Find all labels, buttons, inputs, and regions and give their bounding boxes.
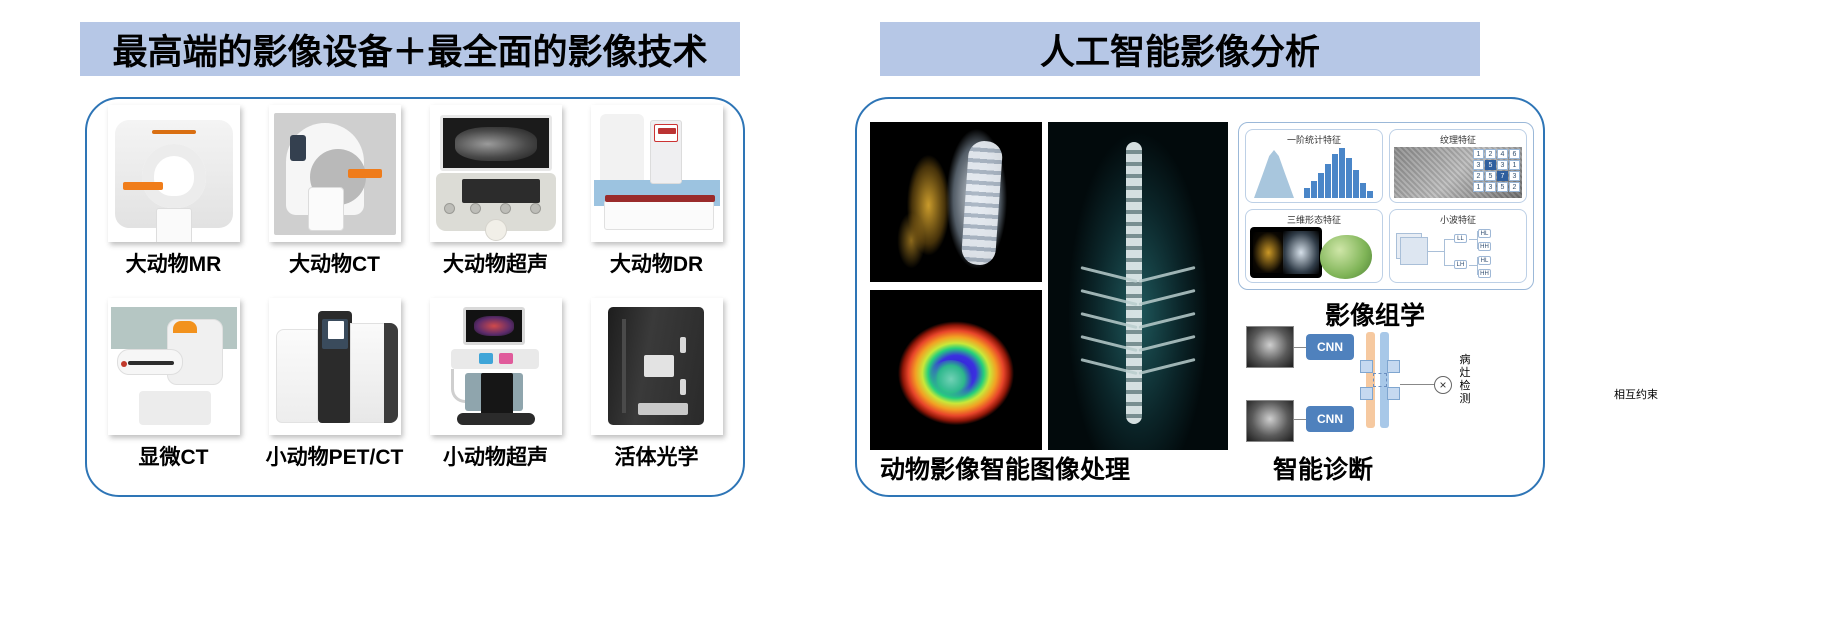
histogram-plot bbox=[1250, 147, 1378, 198]
device-label: 大动物DR bbox=[610, 248, 703, 278]
cnn-block: CNN bbox=[1306, 406, 1354, 432]
wavelet-node: HH bbox=[1478, 269, 1491, 278]
mri-slice-thumbnail bbox=[1246, 400, 1294, 442]
small-animal-ultrasound-icon bbox=[430, 298, 562, 435]
mri-scanner-icon bbox=[108, 105, 240, 242]
device-item-dr[interactable]: 大动物DR bbox=[578, 105, 735, 296]
matrix-cell: 5 bbox=[1485, 171, 1496, 181]
wavelet-node: HH bbox=[1478, 242, 1491, 251]
matrix-cell: 3 bbox=[1485, 182, 1496, 192]
device-label: 大动物超声 bbox=[443, 248, 548, 278]
lesion-detection-label: 病灶检测 bbox=[1458, 354, 1472, 406]
feature-3d-shape: 三维形态特征 bbox=[1245, 209, 1383, 283]
matrix-cell: 1 bbox=[1473, 149, 1484, 159]
ai-panel-content: 一阶统计特征 bbox=[870, 110, 1535, 488]
feature-title: 一阶统计特征 bbox=[1246, 133, 1382, 146]
wavelet-node: LH bbox=[1454, 260, 1467, 269]
matrix-cell: 3 bbox=[1497, 160, 1508, 170]
matrix-cell: 2 bbox=[1473, 171, 1484, 181]
mutual-constraint-label: 相互约束 bbox=[1614, 386, 1658, 402]
matrix-cell: 3 bbox=[1473, 160, 1484, 170]
feature-title: 三维形态特征 bbox=[1246, 213, 1382, 226]
device-item-pet-ct[interactable]: 小动物PET/CT bbox=[256, 298, 413, 489]
matrix-cell: 4 bbox=[1497, 149, 1508, 159]
device-label: 小动物超声 bbox=[443, 441, 548, 471]
device-label: 活体光学 bbox=[615, 441, 699, 471]
wavelet-node: HL bbox=[1478, 256, 1491, 265]
device-item-ct[interactable]: 大动物CT bbox=[256, 105, 413, 296]
caption-intelligent-diagnosis: 智能诊断 bbox=[1273, 450, 1373, 486]
wavelet-decomposition-tree: LL LH HL HH HL HH bbox=[1428, 229, 1522, 276]
device-item-micro-ct[interactable]: 显微CT bbox=[95, 298, 252, 489]
slide-root: 最高端的影像设备＋最全面的影像技术 人工智能影像分析 大动物MR bbox=[0, 0, 1831, 640]
matrix-cell: 6 bbox=[1509, 149, 1520, 159]
digital-radiography-icon bbox=[591, 105, 723, 242]
banner-left-text: 最高端的影像设备＋最全面的影像技术 bbox=[112, 24, 707, 75]
mutual-constraint-core bbox=[1360, 360, 1400, 400]
feature-first-order-statistics: 一阶统计特征 bbox=[1245, 129, 1383, 203]
matrix-cell: 2 bbox=[1509, 182, 1520, 192]
matrix-cell: 5 bbox=[1497, 182, 1508, 192]
texture-matrix: 1 2 4 6 3 5 3 1 2 5 7 3 1 3 5 bbox=[1473, 149, 1520, 192]
in-vivo-optical-imaging-icon bbox=[591, 298, 723, 435]
pet-ct-icon bbox=[269, 298, 401, 435]
shape-3d-thumbnail bbox=[1250, 227, 1322, 278]
banner-imaging-equipment: 最高端的影像设备＋最全面的影像技术 bbox=[80, 22, 740, 76]
radiomics-feature-grid: 一阶统计特征 bbox=[1238, 122, 1534, 290]
device-item-small-animal-ultrasound[interactable]: 小动物超声 bbox=[417, 298, 574, 489]
device-label: 大动物CT bbox=[289, 248, 380, 278]
cnn-diagram: CNN CNN × 相互约束 病灶检测 bbox=[1242, 324, 1534, 452]
ultrasound-console-icon bbox=[430, 105, 562, 242]
wavelet-node: HL bbox=[1478, 229, 1491, 238]
device-label: 显微CT bbox=[139, 441, 209, 471]
matrix-cell: 1 bbox=[1473, 182, 1484, 192]
feature-texture: 纹理特征 1 2 4 6 3 5 3 1 2 5 7 bbox=[1389, 129, 1527, 203]
wavelet-node: LL bbox=[1454, 234, 1467, 243]
feature-wavelet: 小波特征 LL LH HL bbox=[1389, 209, 1527, 283]
mri-slice-thumbnail bbox=[1246, 326, 1294, 368]
device-item-mr[interactable]: 大动物MR bbox=[95, 105, 252, 296]
matrix-cell: 5 bbox=[1485, 160, 1496, 170]
micro-ct-icon bbox=[108, 298, 240, 435]
skeleton-ct-render-image bbox=[1048, 122, 1228, 450]
feature-title: 纹理特征 bbox=[1390, 133, 1526, 146]
device-label: 大动物MR bbox=[126, 248, 222, 278]
wavelet-source-image-icon bbox=[1396, 233, 1422, 259]
matrix-cell: 3 bbox=[1509, 171, 1520, 181]
banner-right-text: 人工智能影像分析 bbox=[1040, 24, 1320, 75]
merge-operator-icon: × bbox=[1434, 376, 1452, 394]
feature-title: 小波特征 bbox=[1390, 213, 1526, 226]
device-label: 小动物PET/CT bbox=[266, 441, 404, 471]
caption-image-processing: 动物影像智能图像处理 bbox=[880, 450, 1130, 486]
thermal-cross-section-image bbox=[870, 290, 1042, 450]
green-mesh-icon bbox=[1320, 235, 1372, 279]
ct-scanner-icon bbox=[269, 105, 401, 242]
banner-ai-imaging-analysis: 人工智能影像分析 bbox=[880, 22, 1480, 76]
cnn-block: CNN bbox=[1306, 334, 1354, 360]
bone-3d-render-image bbox=[870, 122, 1042, 282]
wavelet-diagram: LL LH HL HH HL HH bbox=[1394, 227, 1522, 278]
matrix-cell: 1 bbox=[1509, 160, 1520, 170]
device-item-ultrasound[interactable]: 大动物超声 bbox=[417, 105, 574, 296]
matrix-cell: 7 bbox=[1497, 171, 1508, 181]
device-item-optical[interactable]: 活体光学 bbox=[578, 298, 735, 489]
device-grid: 大动物MR 大动物CT bbox=[95, 105, 735, 489]
matrix-cell: 2 bbox=[1485, 149, 1496, 159]
